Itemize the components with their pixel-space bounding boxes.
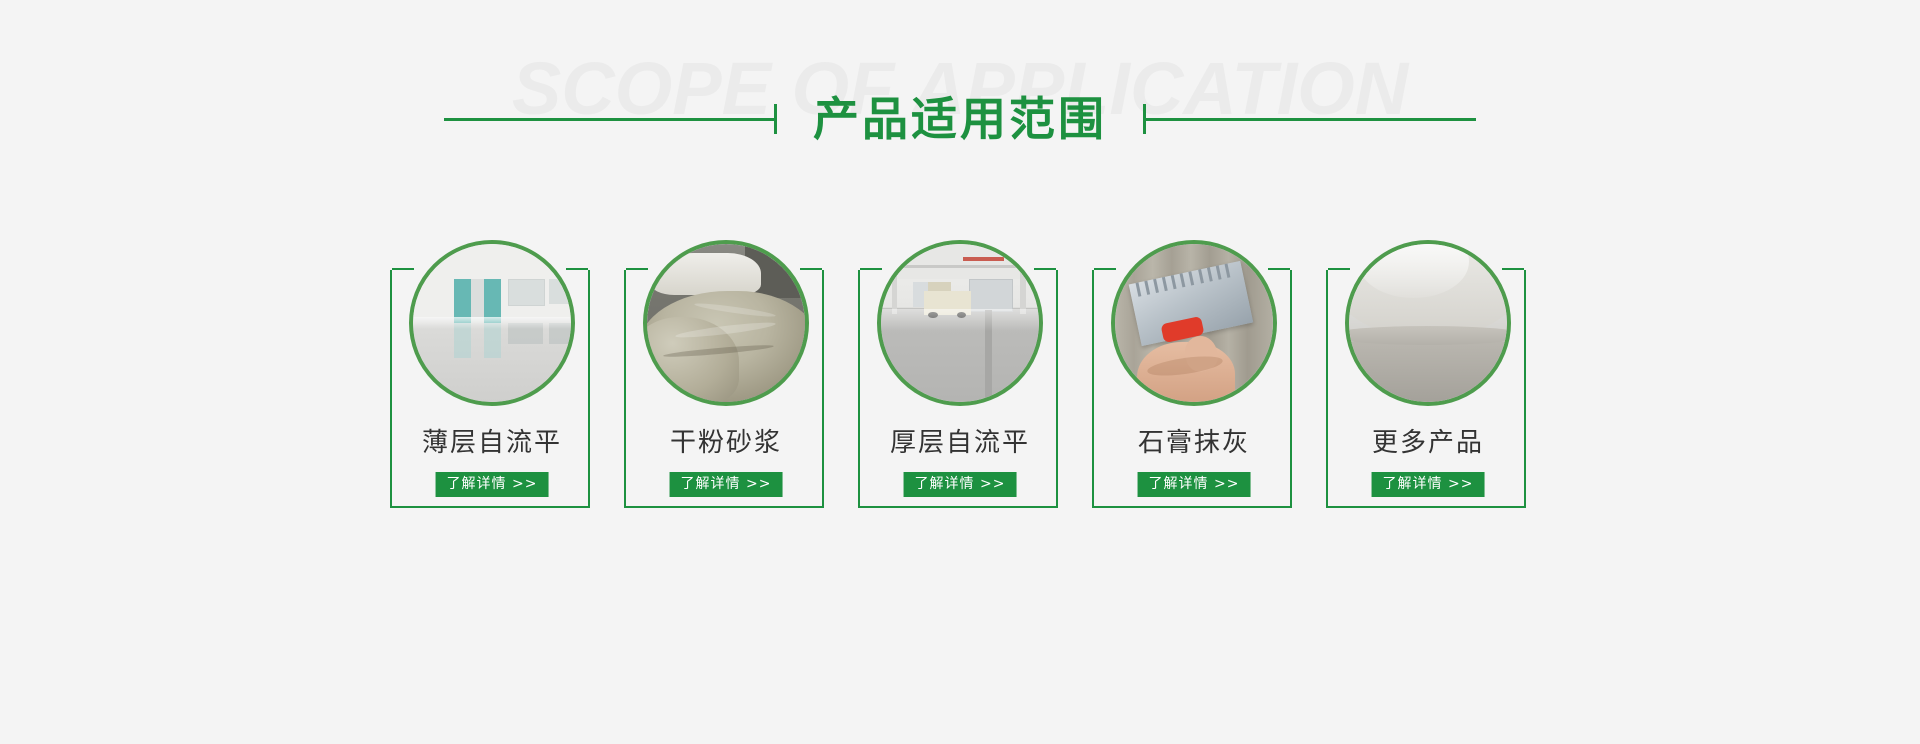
learn-more-button[interactable]: 了解详情 >> [1372, 472, 1485, 497]
card-photo-warehouse-floor [877, 240, 1043, 406]
card-photo-glossy-surface [1345, 240, 1511, 406]
card-title: 薄层自流平 [390, 422, 594, 459]
application-card[interactable]: 厚层自流平 了解详情 >> [858, 240, 1062, 512]
application-card-list: 薄层自流平 了解详情 >> 干粉砂浆 [0, 240, 1920, 512]
application-card[interactable]: 更多产品 了解详情 >> [1326, 240, 1530, 512]
application-card[interactable]: 石膏抹灰 了解详情 >> [1092, 240, 1296, 512]
learn-more-button[interactable]: 了解详情 >> [904, 472, 1017, 497]
card-photo-notched-trowel [1111, 240, 1277, 406]
application-card[interactable]: 薄层自流平 了解详情 >> [390, 240, 594, 512]
learn-more-button[interactable]: 了解详情 >> [670, 472, 783, 497]
card-title: 石膏抹灰 [1092, 422, 1296, 459]
card-title: 厚层自流平 [858, 422, 1062, 459]
learn-more-button[interactable]: 了解详情 >> [1138, 472, 1251, 497]
card-title: 更多产品 [1326, 422, 1530, 459]
title-rule-left [444, 118, 774, 121]
card-photo-dry-powder-mortar [643, 240, 809, 406]
learn-more-button[interactable]: 了解详情 >> [436, 472, 549, 497]
section-header: SCOPE OF APPLICATION 产品适用范围 [0, 0, 1920, 200]
card-photo-epoxy-self-leveling-floor [409, 240, 575, 406]
card-title: 干粉砂浆 [624, 422, 828, 459]
page-title: 产品适用范围 [813, 96, 1107, 142]
title-tick-left [774, 104, 777, 134]
scope-of-application-section: SCOPE OF APPLICATION 产品适用范围 [0, 0, 1920, 744]
title-rule-right [1146, 118, 1476, 121]
application-card[interactable]: 干粉砂浆 了解详情 >> [624, 240, 828, 512]
title-row: 产品适用范围 [0, 96, 1920, 142]
